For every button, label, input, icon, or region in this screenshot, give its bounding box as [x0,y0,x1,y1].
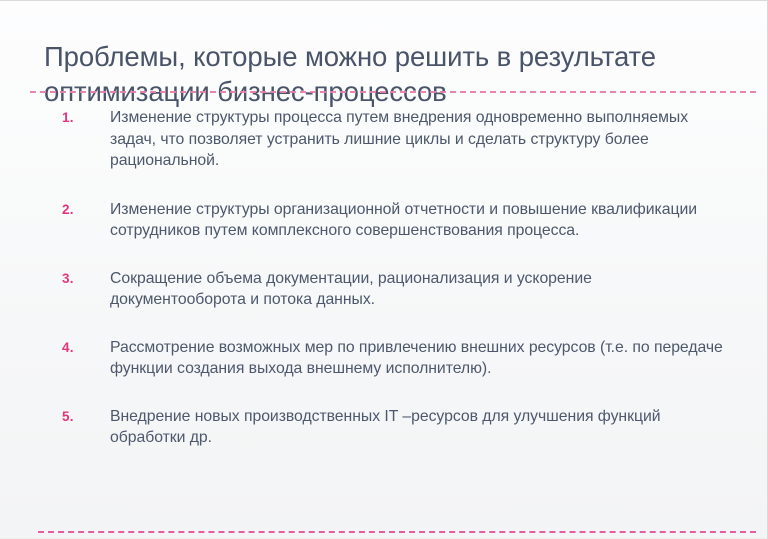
list-item-marker: 2. [62,202,88,217]
divider-top [30,91,756,93]
list-item-marker: 4. [62,340,88,355]
list-item-text: Изменение структуры процесса путем внедр… [110,109,688,169]
list-item: 1. Изменение структуры процесса путем вн… [60,107,732,172]
list-item-text: Изменение структуры организационной отче… [110,201,697,240]
list-item-marker: 1. [62,110,88,125]
divider-bottom [38,531,756,533]
page-title: Проблемы, которые можно решить в результ… [44,39,734,109]
list-item-text: Рассмотрение возможных мер по привлечени… [110,339,723,378]
list-item: 5. Внедрение новых производственных IT –… [60,406,732,449]
list-item-text: Сокращение объема документации, рационал… [110,270,592,309]
slide-canvas: Проблемы, которые можно решить в результ… [0,0,768,539]
problem-list: 1. Изменение структуры процесса путем вн… [60,107,732,449]
list-item-marker: 3. [62,271,88,286]
list-item: 4. Рассмотрение возможных мер по привлеч… [60,337,732,380]
list-item-marker: 5. [62,409,88,424]
list-item: 3. Сокращение объема документации, рацио… [60,268,732,311]
list-item: 2. Изменение структуры организационной о… [60,199,732,242]
list-item-text: Внедрение новых производственных IT –рес… [110,408,661,447]
